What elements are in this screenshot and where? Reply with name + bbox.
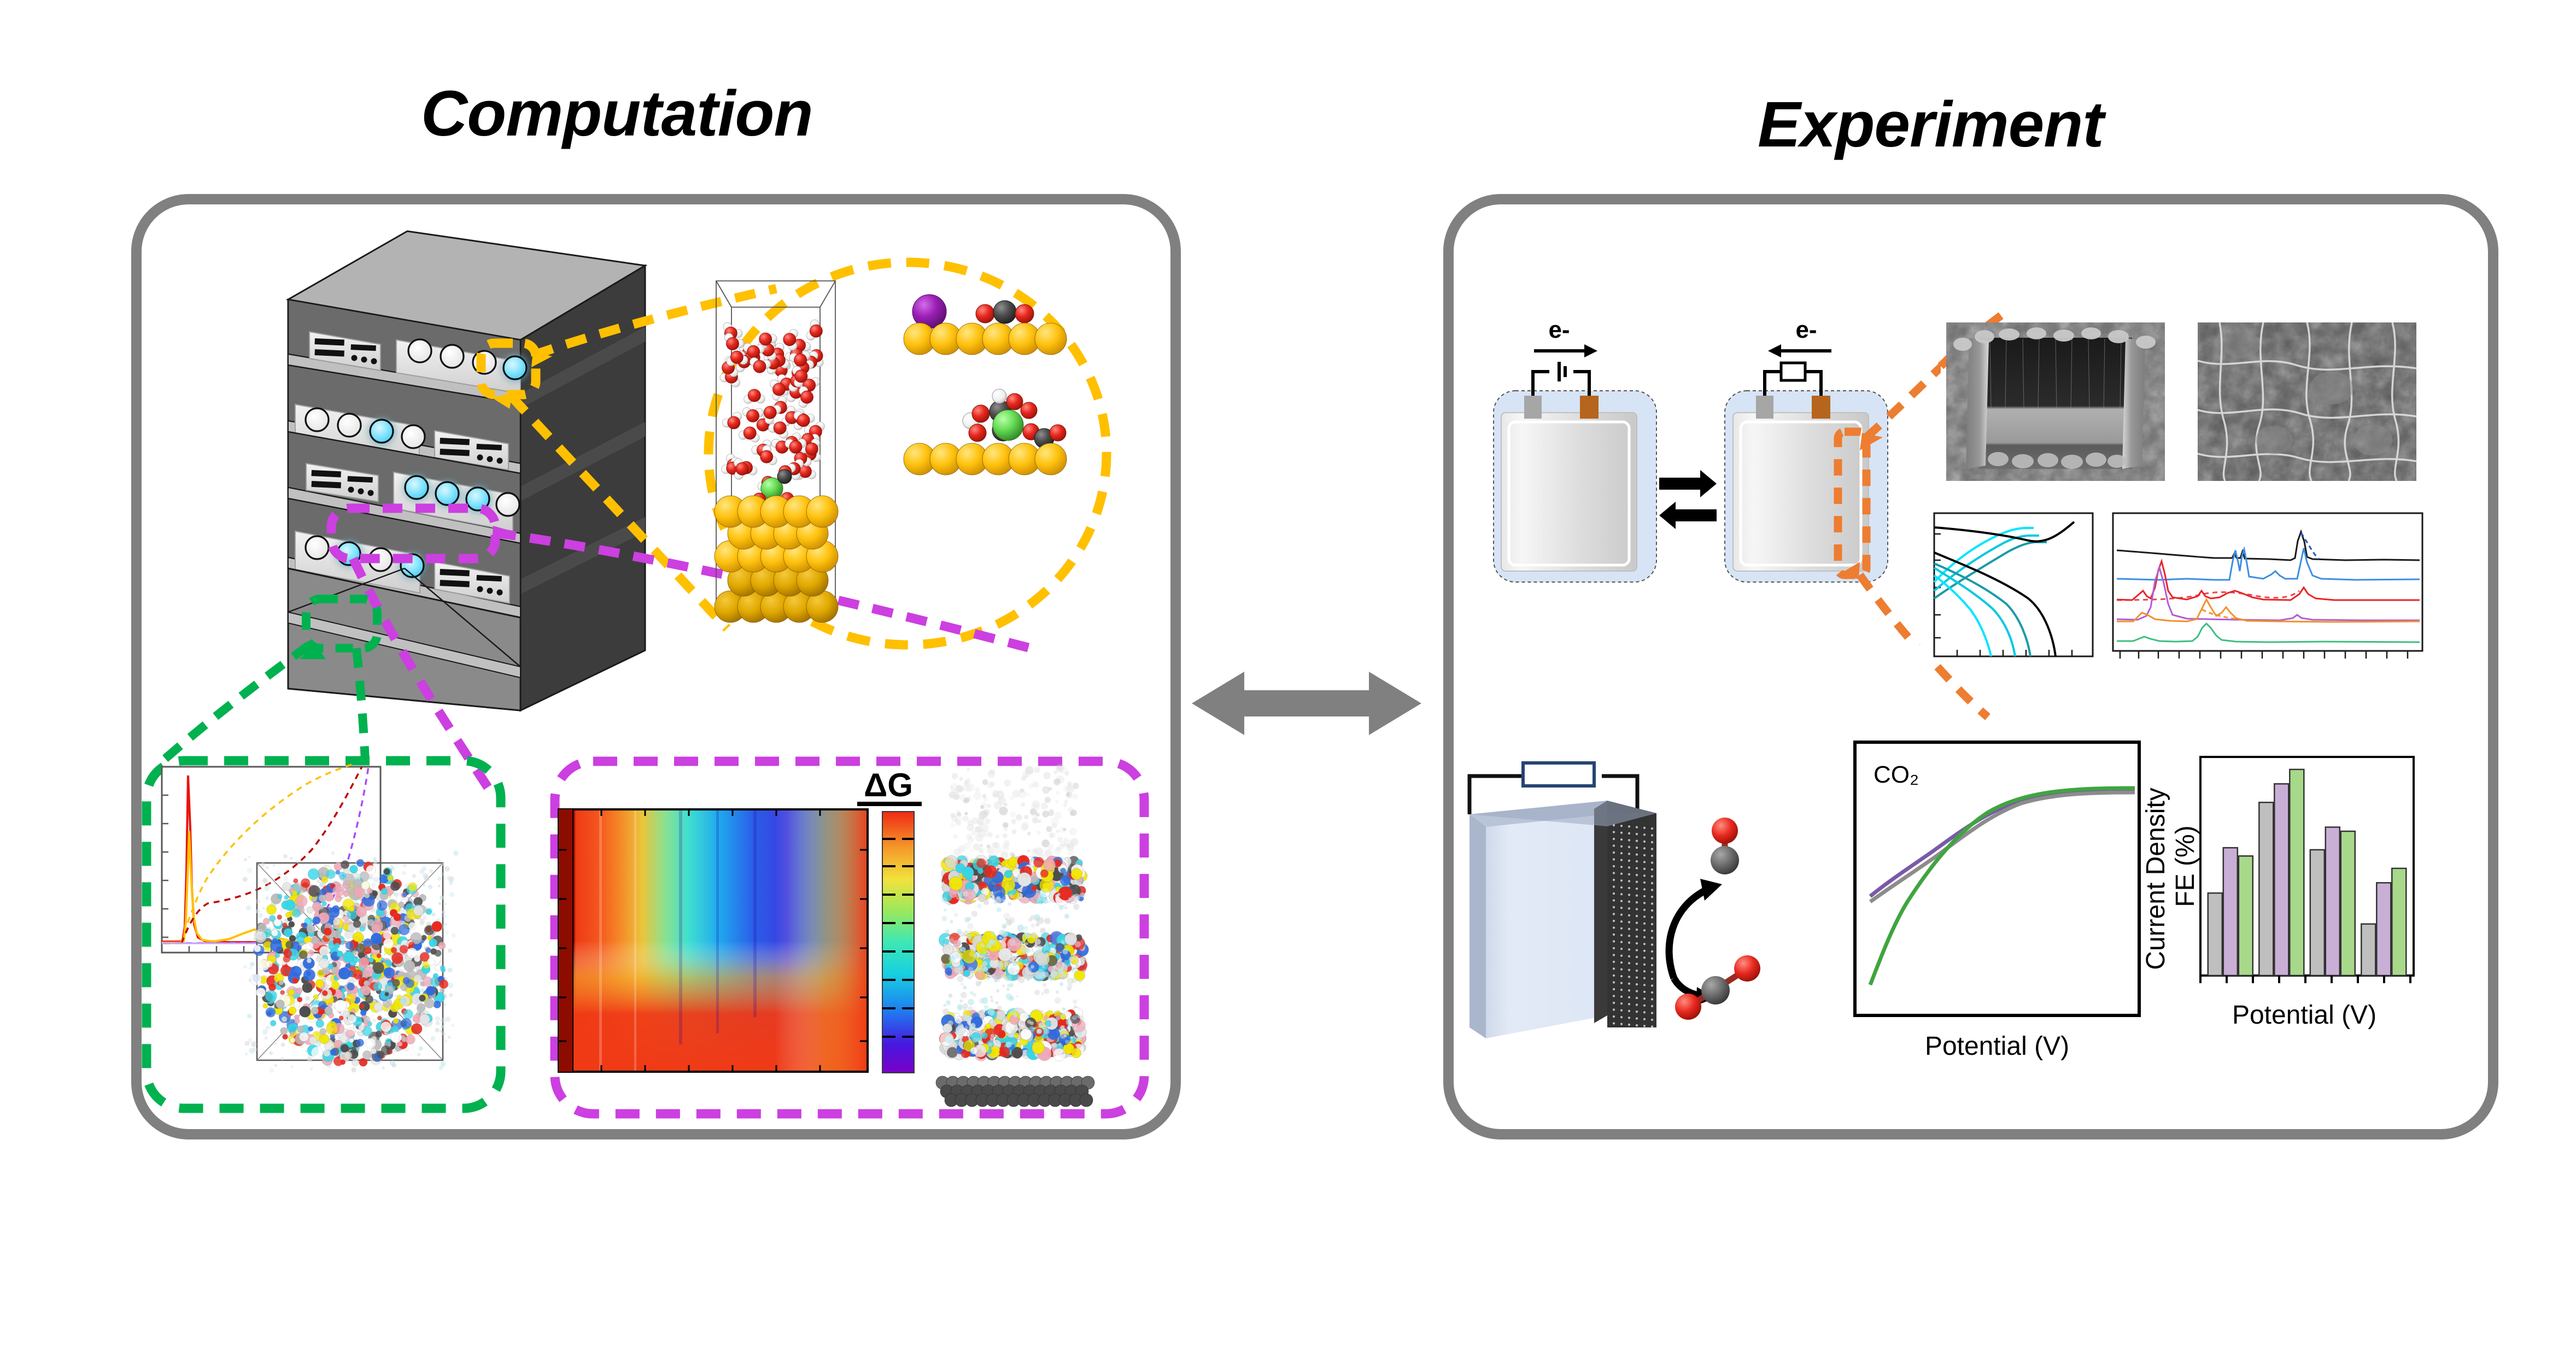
- bar: [2223, 848, 2238, 976]
- battery-cells-group: e- e-: [1492, 306, 1941, 645]
- co-molecule: [1711, 818, 1739, 874]
- stacked-spectra-chart: [2113, 513, 2422, 659]
- rack-led: [306, 536, 329, 559]
- rack-led: [496, 493, 519, 516]
- bar: [2274, 784, 2288, 976]
- cell-tab-negative: [1524, 396, 1542, 419]
- cell-tab-negative: [1756, 396, 1773, 419]
- colorbar: [882, 812, 914, 1073]
- free-energy-heatmap: [559, 809, 868, 1072]
- rack-led-active: [401, 554, 424, 577]
- sem-surface-image: [2198, 322, 2416, 481]
- free-energy-group: ΔG: [552, 757, 1148, 1118]
- resistor-symbol: [1781, 363, 1805, 380]
- rack-led-active: [436, 482, 459, 505]
- page-title-experiment: Experiment: [1758, 87, 2104, 162]
- sem-cross-section-image: [1946, 322, 2165, 481]
- rack-led-active: [337, 542, 360, 565]
- cell-tab-positive: [1812, 396, 1830, 419]
- rack-led: [369, 548, 392, 571]
- hpc-server-rack: [262, 230, 711, 732]
- rack-led: [402, 425, 425, 448]
- bar: [2341, 831, 2355, 976]
- rack-led: [338, 414, 361, 437]
- bar: [2326, 827, 2340, 976]
- charge-cell: e-: [1494, 316, 1656, 582]
- electron-label-right: e-: [1795, 316, 1817, 343]
- colorbar-label: ΔG: [864, 767, 913, 803]
- co2-annotation: CO₂: [1874, 761, 1919, 788]
- rack-led: [306, 408, 329, 431]
- x-axis-label: Potential (V): [2232, 1001, 2376, 1030]
- bar: [2392, 868, 2406, 976]
- voltage-capacity-chart: [1934, 513, 2093, 656]
- rack-led-active: [504, 356, 526, 379]
- bidirectional-arrow-icon: [1192, 645, 1421, 762]
- electron-label-left: e-: [1548, 316, 1570, 343]
- rack-led-active: [466, 487, 489, 510]
- fe-bar-chart: Potential (V) FE (%): [2173, 751, 2446, 1085]
- rack-led: [441, 345, 464, 368]
- y-axis-label: FE (%): [2173, 825, 2200, 907]
- rack-led: [473, 351, 496, 374]
- rack-led: [408, 339, 431, 362]
- cycle-arrows-icon: [1659, 470, 1717, 529]
- md-structure-snapshot: [939, 764, 1088, 1061]
- dft-aimd-inset: [705, 257, 1099, 656]
- bar: [2259, 802, 2273, 976]
- bar: [2290, 769, 2304, 976]
- bar: [2310, 850, 2325, 976]
- rack-led-active: [405, 476, 428, 499]
- rdf-md-group: [148, 762, 503, 1107]
- fe-line-chart: CO₂ Potential (V) Current Density: [1851, 738, 2179, 1077]
- x-axis-label: Potential (V): [1925, 1032, 2069, 1061]
- sem-images-group: [1946, 322, 2427, 514]
- y-axis-label: Current Density: [2141, 788, 2170, 970]
- experiment-curves-group: [1930, 511, 2427, 672]
- cell-tab-positive: [1580, 396, 1599, 419]
- page-title-computation: Computation: [421, 77, 813, 151]
- bar: [2239, 856, 2253, 976]
- electrolyzer-schematic: [1427, 743, 1810, 1071]
- bar: [2376, 883, 2391, 976]
- bar: [2361, 924, 2375, 976]
- resistor-symbol: [1523, 763, 1594, 786]
- rack-led-active: [370, 420, 393, 443]
- bar: [2208, 893, 2222, 976]
